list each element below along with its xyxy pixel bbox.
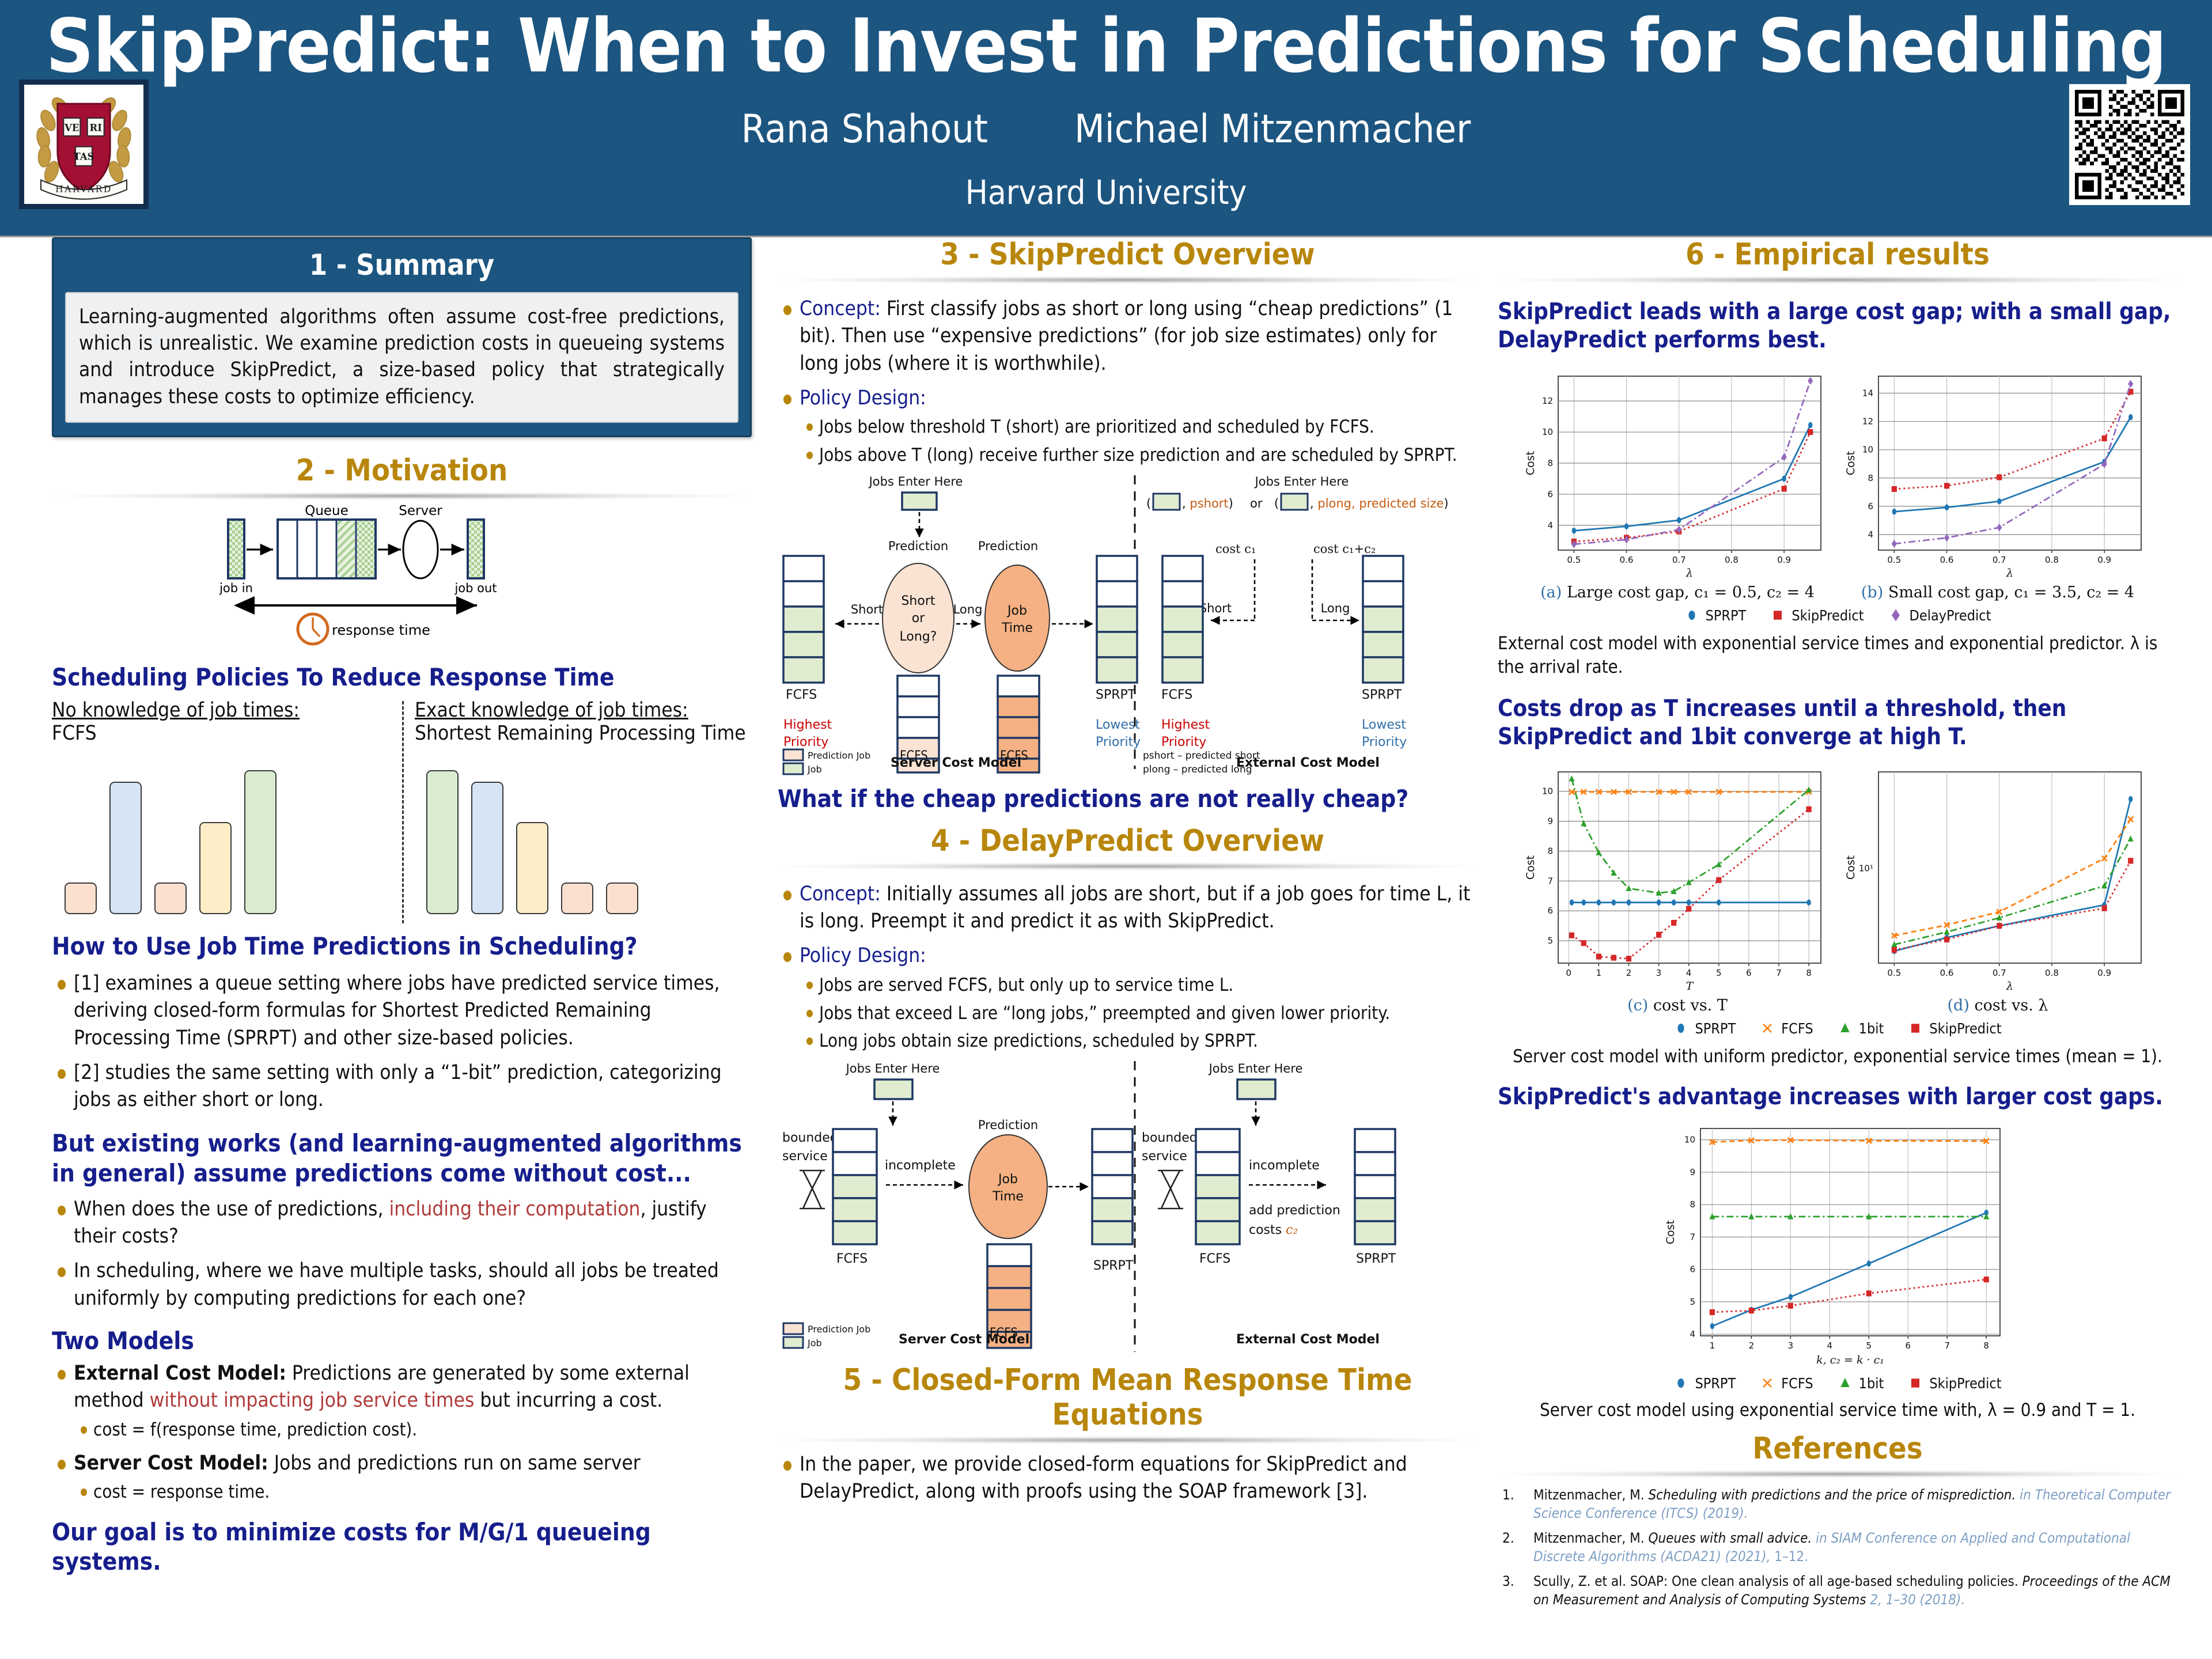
summary-section: 1 - Summary Learning-augmented algorithm… — [52, 237, 752, 437]
fcfs-label-d-left: FCFS — [836, 1252, 868, 1266]
harvard-crest-logo: VE RI TAS HARVARD — [19, 79, 149, 209]
cheap-predictions-question: What if the cheap predictions are not re… — [778, 784, 1478, 813]
legend-marker-icon — [1673, 1376, 1688, 1391]
how-to-use-heading: How to Use Job Time Predictions in Sched… — [52, 931, 752, 961]
external-sub-list: cost = f(response time, prediction cost)… — [74, 1418, 752, 1442]
affiliation: Harvard University — [0, 173, 2212, 212]
policy-design-label: Policy Design: — [800, 944, 926, 967]
y-tick-label: 9 — [1547, 816, 1553, 826]
highest-priority-line2: Priority — [783, 735, 828, 749]
x-tick-label: 0.6 — [1620, 555, 1634, 565]
list-item-concept: Concept: First classify jobs as short or… — [778, 296, 1478, 377]
svg-text:TAS: TAS — [73, 150, 94, 162]
x-tick-label: 2 — [1626, 968, 1632, 978]
highest-priority-right-1: Highest — [1161, 718, 1210, 732]
legend-label: SkipPredict — [1791, 607, 1863, 624]
x-tick-label: 2 — [1749, 1340, 1755, 1351]
reference-pages: 1–12. — [1770, 1548, 1808, 1565]
column-middle: 3 - SkipPredict Overview Concept: First … — [778, 237, 1478, 1513]
y-tick-label: 8 — [1690, 1199, 1695, 1210]
job-out-label: job out — [454, 581, 497, 595]
y-tick-label: 10 — [1542, 427, 1553, 437]
policy-sub-list: Jobs below threshold T (short) are prior… — [800, 415, 1478, 468]
long-arrow-label: Long — [953, 603, 983, 616]
data-point — [1808, 422, 1812, 428]
references-list: Mitzenmacher, M. Scheduling with predict… — [1498, 1486, 2177, 1609]
claim-1: SkipPredict leads with a large cost gap;… — [1498, 298, 2177, 354]
y-axis-label: Cost — [1845, 450, 1857, 475]
reference-title: Scheduling with predictions and the pric… — [1648, 1487, 2016, 1503]
prediction-label-1: Prediction — [888, 539, 948, 553]
data-point — [2102, 906, 2107, 911]
data-point — [1997, 923, 2002, 929]
x-tick-label: 0.5 — [1887, 555, 1901, 565]
chart-c-svg: 0123456785678910TCost — [1525, 763, 1830, 993]
short-or-long-line3: Long? — [900, 630, 937, 644]
prediction-label-d: Prediction — [978, 1118, 1038, 1132]
predictions-bullets: [1] examines a queue setting where jobs … — [52, 970, 752, 1113]
x-tick-label: 6 — [1746, 968, 1752, 978]
ext-tuple-1-text: , pshort) — [1182, 497, 1233, 510]
delaypredict-heading: 4 - DelayPredict Overview — [778, 824, 1478, 858]
data-point — [1611, 955, 1616, 960]
chart-a-caption-text: Large cost gap, c₁ = 0.5, c₂ = 4 — [1562, 584, 1815, 601]
jobs-enter-label-right: Jobs Enter Here — [1254, 475, 1349, 488]
delaypredict-diagram-svg: Jobs Enter Here bounded service — [778, 1061, 1478, 1361]
bounded-label-left: bounded — [782, 1131, 838, 1145]
x-tick-label: 7 — [1776, 968, 1782, 978]
incomplete-label-left: incomplete — [885, 1158, 956, 1173]
x-tick-label: 4 — [1686, 968, 1692, 978]
delaypredict-diagram: Jobs Enter Here bounded service — [778, 1061, 1478, 1361]
data-point — [1569, 933, 1574, 938]
list-item: Jobs that exceed L are “long jobs,” pree… — [800, 1002, 1478, 1026]
chart-d-svg: 0.50.60.70.80.910¹λCost — [1845, 763, 2150, 993]
section-divider — [52, 492, 752, 500]
reference-authors: Scully, Z. et al. SOAP: One clean analys… — [1533, 1573, 2022, 1589]
reference-venue: 2, 1–30 (2018). — [1866, 1592, 1965, 1608]
data-point — [1892, 509, 1896, 515]
chart-a-caption: (a) Large cost gap, c₁ = 0.5, c₂ = 4 — [1525, 584, 1830, 601]
data-point — [1911, 1024, 1919, 1033]
y-tick-label: 4 — [1690, 1329, 1695, 1339]
skippredict-diagram-svg: Jobs Enter Here Prediction Prediction — [778, 475, 1478, 781]
bar — [244, 770, 276, 914]
data-point — [1677, 517, 1681, 523]
x-axis-label: T — [1686, 980, 1694, 993]
lowest-priority-right-1: Lowest — [1362, 718, 1406, 732]
chart-d-caption: (d) cost vs. λ — [1845, 997, 2150, 1014]
ext-tuple-open-2: ( — [1274, 497, 1279, 510]
poster-root: SkipPredict: When to Invest in Predictio… — [0, 0, 2212, 1659]
jobs-enter-label-right-2: Jobs Enter Here — [1208, 1062, 1303, 1075]
skippredict-diagram: Jobs Enter Here Prediction Prediction — [778, 475, 1478, 781]
x-tick-label: 8 — [1806, 968, 1812, 978]
list-item: In the paper, we provide closed-form equ… — [778, 1451, 1478, 1506]
bar — [516, 822, 548, 914]
poster-header: SkipPredict: When to Invest in Predictio… — [0, 0, 2212, 237]
claim-3: SkipPredict's advantage increases with l… — [1498, 1083, 2177, 1111]
sprpt-label-d-right: SPRPT — [1356, 1252, 1396, 1266]
list-item-server-cost-model: Server Cost Model: Jobs and predictions … — [52, 1450, 752, 1505]
claim-2: Costs drop as T increases until a thresh… — [1498, 695, 2177, 751]
x-axis-label: λ — [2006, 980, 2013, 993]
concept-text: Initially assumes all jobs are short, bu… — [800, 882, 1470, 933]
poster-columns: 1 - Summary Learning-augmented algorithm… — [0, 237, 2212, 1659]
reference-title: Queues with small advice. — [1648, 1530, 1812, 1546]
legend-item-SkipPredict: SkipPredict — [1908, 1375, 2001, 1392]
list-item: Jobs below threshold T (short) are prior… — [800, 415, 1478, 440]
note-2: Server cost model with uniform predictor… — [1498, 1045, 2177, 1069]
external-cost-model-caption-2: External Cost Model — [1236, 1332, 1380, 1347]
empirical-results-heading: 6 - Empirical results — [1498, 237, 2177, 272]
y-axis-label: Cost — [1525, 450, 1537, 475]
hourglass-icon-2 — [1158, 1171, 1183, 1209]
ext-tuple-or: or — [1250, 497, 1263, 510]
x-tick-label: 6 — [1905, 1340, 1911, 1351]
data-point — [1892, 609, 1900, 622]
y-tick-label: 4 — [1547, 520, 1553, 530]
skippredict-bullets: Concept: First classify jobs as short or… — [778, 296, 1478, 468]
policy-sub-list: Jobs are served FCFS, but only up to ser… — [800, 974, 1478, 1054]
chart-c-container: 0123456785678910TCost (c) cost vs. T — [1525, 763, 1830, 1014]
chart-a-svg: 0.50.60.70.80.94681012λCost — [1525, 367, 1830, 580]
bars-divider — [402, 701, 404, 923]
x-tick-label: 1 — [1596, 968, 1602, 978]
legend-marker-icon — [1760, 1376, 1775, 1391]
bar — [109, 782, 142, 914]
queue-diagram-svg: job in Queue — [160, 505, 644, 654]
x-tick-label: 5 — [1866, 1340, 1872, 1351]
x-tick-label: 0.8 — [1725, 555, 1738, 565]
legend-marker-icon — [1838, 1021, 1853, 1036]
data-point — [1710, 1309, 1715, 1315]
legend-marker-icon — [1838, 1376, 1853, 1391]
bar — [471, 782, 503, 914]
long-arrow-label-right: Long — [1321, 601, 1350, 615]
chart-b-svg: 0.50.60.70.80.9468101214λCost — [1845, 367, 2150, 580]
chart-c-caption-text: cost vs. T — [1648, 997, 1728, 1014]
policy-design-label: Policy Design: — [800, 387, 926, 410]
legend-label: SkipPredict — [1929, 1020, 2001, 1037]
data-point — [2128, 796, 2133, 802]
queue-label: Queue — [305, 505, 349, 518]
legend-label: FCFS — [1781, 1375, 1813, 1392]
short-arrow-label: Short — [851, 603, 883, 616]
sprpt-label-right: SPRPT — [1362, 688, 1402, 702]
data-point — [1997, 474, 2002, 480]
data-point — [1686, 906, 1691, 911]
chart-b-caption: (b) Small cost gap, c₁ = 3.5, c₂ = 4 — [1845, 584, 2150, 601]
cost-c1c2-label: cost c₁+c₂ — [1313, 542, 1376, 556]
x-tick-label: 3 — [1788, 1340, 1794, 1351]
cost-free-bullets: When does the use of predictions, includ… — [52, 1196, 752, 1312]
data-point — [1671, 920, 1676, 926]
no-knowledge-heading: No knowledge of job times: — [52, 699, 374, 722]
concept-label: Concept: — [800, 882, 881, 906]
section-divider — [778, 276, 1478, 284]
external-text-post: but incurring a cost. — [474, 1389, 662, 1412]
y-tick-label: 10¹ — [1859, 863, 1873, 873]
concept-label: Concept: — [800, 297, 881, 320]
legend-label: 1bit — [1859, 1020, 1884, 1037]
legend-item-1bit: 1bit — [1838, 1020, 1884, 1037]
x-tick-label: 0.7 — [1993, 555, 2006, 565]
chart-c-caption: (c) cost vs. T — [1525, 997, 1830, 1014]
data-point — [1688, 611, 1695, 620]
external-text-highlight: without impacting job service times — [150, 1389, 475, 1412]
legend-label: SkipPredict — [1929, 1375, 2001, 1392]
data-point — [1570, 899, 1574, 906]
sprpt-label-d-left: SPRPT — [1093, 1259, 1134, 1273]
legend-label: DelayPredict — [1910, 607, 1991, 624]
data-point — [1840, 1023, 1849, 1032]
data-point — [1867, 1260, 1871, 1267]
hourglass-icon — [800, 1171, 825, 1209]
y-tick-label: 8 — [1547, 458, 1553, 468]
x-tick-label: 0.7 — [1993, 968, 2006, 978]
data-point — [1687, 899, 1691, 906]
chart-b-caption-prefix: (b) — [1861, 584, 1883, 601]
bar — [199, 822, 232, 914]
data-point — [2102, 435, 2107, 441]
data-point — [1716, 877, 1721, 883]
list-item: When does the use of predictions, includ… — [52, 1196, 752, 1251]
data-point — [1911, 1378, 1919, 1387]
bar — [65, 882, 97, 914]
y-tick-label: 8 — [1547, 846, 1553, 856]
fcfs-label-pred2: FCFS — [1000, 749, 1028, 763]
response-time-label: response time — [332, 622, 430, 638]
list-item: Jobs are served FCFS, but only up to ser… — [800, 974, 1478, 998]
data-point — [1806, 806, 1812, 812]
data-point — [1596, 953, 1601, 959]
data-point — [1717, 899, 1721, 906]
cost-free-heading: But existing works (and learning-augment… — [52, 1128, 752, 1187]
chart-e-svg: 1234567845678910k, c₂ = k · c₁Cost — [1665, 1119, 2010, 1367]
data-point — [1627, 899, 1631, 906]
fcfs-label-pred1: FCFS — [900, 749, 928, 763]
data-point — [1624, 523, 1628, 529]
x-tick-label: 0.9 — [2097, 555, 2111, 565]
legend-marker-icon — [1908, 1021, 1923, 1036]
job-time-line2: Time — [1001, 621, 1033, 635]
summary-heading: 1 - Summary — [54, 239, 750, 292]
data-point — [1672, 899, 1676, 906]
chart-d-caption-prefix: (d) — [1948, 997, 1969, 1014]
lowest-priority-line1: Lowest — [1096, 718, 1140, 732]
sprpt-label-left: SPRPT — [1096, 688, 1136, 702]
page-title: SkipPredict: When to Invest in Predictio… — [0, 3, 2212, 89]
chart-a-container: 0.50.60.70.80.94681012λCost (a) Large co… — [1525, 367, 1830, 601]
y-tick-label: 7 — [1547, 876, 1553, 886]
legend-ab: SPRPTSkipPredictDelayPredict — [1498, 607, 2177, 624]
y-tick-label: 10 — [1542, 786, 1553, 797]
bar — [154, 882, 187, 914]
legend-item-SPRPT: SPRPT — [1673, 1375, 1736, 1392]
chart-d-caption-text: cost vs. λ — [1969, 997, 2048, 1014]
x-tick-label: 0.6 — [1940, 555, 1954, 565]
data-point — [1840, 1378, 1849, 1387]
job-time-d-1: Job — [997, 1172, 1018, 1187]
y-axis-label: Cost — [1525, 855, 1537, 880]
reference-item: Mitzenmacher, M. Scheduling with predict… — [1498, 1486, 2177, 1523]
data-point — [1774, 611, 1782, 619]
bullet-text-pre: When does the use of predictions, — [74, 1198, 389, 1221]
data-point — [1806, 899, 1810, 906]
data-point — [1763, 1379, 1771, 1387]
svg-text:VE: VE — [64, 122, 79, 134]
lowest-priority-right-2: Priority — [1362, 735, 1407, 749]
y-axis-label: Cost — [1845, 855, 1857, 880]
column-right: 6 - Empirical results SkipPredict leads … — [1498, 237, 2177, 1616]
note-1: External cost model with exponential ser… — [1498, 632, 2177, 680]
two-models-heading: Two Models — [52, 1326, 752, 1355]
jobs-enter-label-left-2: Jobs Enter Here — [845, 1062, 940, 1075]
data-point — [1944, 937, 1949, 942]
concept-text: First classify jobs as short or long usi… — [800, 297, 1453, 375]
reference-authors: Mitzenmacher, M. — [1533, 1530, 1648, 1546]
bar — [561, 882, 593, 914]
prediction-label-2: Prediction — [978, 539, 1038, 553]
qr-code[interactable] — [2069, 84, 2190, 205]
server-sub-list: cost = response time. — [74, 1480, 752, 1505]
x-axis-label: k, c₂ = k · c₁ — [1816, 1354, 1884, 1366]
list-item: In scheduling, where we have multiple ta… — [52, 1257, 752, 1312]
exact-knowledge-heading: Exact knowledge of job times: — [415, 699, 760, 722]
data-point — [1656, 932, 1661, 938]
y-tick-label: 6 — [1547, 906, 1553, 916]
queue-diagram: job in Queue — [52, 505, 752, 660]
note-3: Server cost model using exponential serv… — [1498, 1399, 2177, 1423]
chart-b-container: 0.50.60.70.80.9468101214λCost (b) Small … — [1845, 367, 2150, 601]
author-1: Rana Shahout — [741, 107, 988, 152]
server-cost-model-label: Server Cost Model: — [74, 1452, 268, 1475]
summary-text: Learning-augmented algorithms often assu… — [65, 292, 738, 423]
legend-item-SkipPredict: SkipPredict — [1908, 1020, 2001, 1037]
x-tick-label: 0.8 — [2045, 555, 2059, 565]
x-tick-label: 0.7 — [1672, 555, 1686, 565]
data-point — [1657, 899, 1661, 906]
fcfs-label-left: FCFS — [786, 688, 817, 702]
chart-b-caption-text: Small cost gap, c₁ = 3.5, c₂ = 4 — [1883, 584, 2134, 601]
data-point — [1789, 1294, 1793, 1300]
y-tick-label: 12 — [1542, 396, 1553, 406]
incomplete-label-right: incomplete — [1249, 1158, 1320, 1173]
service-label-right: service — [1142, 1149, 1187, 1164]
closed-form-bullets: In the paper, we provide closed-form equ… — [778, 1451, 1478, 1506]
column-left: 1 - Summary Learning-augmented algorithm… — [52, 237, 752, 1576]
external-cost-model-caption: External Cost Model — [1236, 756, 1380, 770]
list-item: Long jobs obtain size predictions, sched… — [800, 1029, 1478, 1054]
short-or-long-line2: or — [912, 611, 925, 626]
author-list: Rana ShahoutMichael Mitzenmacher — [0, 107, 2212, 152]
data-point — [1749, 1308, 1754, 1313]
highest-priority-right-2: Priority — [1161, 735, 1206, 749]
bar — [426, 770, 459, 914]
legend-marker-icon — [1684, 608, 1699, 623]
y-tick-label: 6 — [1547, 489, 1553, 499]
reference-item: Scully, Z. et al. SOAP: One clean analys… — [1498, 1573, 2177, 1609]
x-tick-label: 0.5 — [1887, 968, 1901, 978]
legend-marker-icon — [1673, 1021, 1688, 1036]
service-label-left: service — [782, 1149, 828, 1164]
ext-tuple-open-1: ( — [1146, 497, 1151, 510]
x-tick-label: 0.5 — [1567, 555, 1581, 565]
references-heading: References — [1498, 1431, 2177, 1466]
data-point — [1763, 1024, 1771, 1032]
job-time-line1: Job — [1006, 604, 1027, 618]
legend-marker-icon — [1760, 1021, 1775, 1036]
data-point — [2128, 858, 2133, 863]
x-tick-label: 1 — [1710, 1340, 1715, 1351]
fcfs-label-d-right: FCFS — [1199, 1252, 1230, 1266]
charts-ab: 0.50.60.70.80.94681012λCost (a) Large co… — [1498, 367, 2177, 624]
data-point — [1678, 1024, 1684, 1033]
server-label: Server — [399, 505, 442, 518]
legend-marker-icon — [1888, 608, 1903, 623]
x-tick-label: 3 — [1656, 968, 1662, 978]
list-item: [1] examines a queue setting where jobs … — [52, 970, 752, 1052]
legend-item-1bit: 1bit — [1838, 1375, 1884, 1392]
y-tick-label: 4 — [1868, 529, 1873, 540]
two-models-list: External Cost Model: Predictions are gen… — [52, 1360, 752, 1504]
y-tick-label: 10 — [1862, 444, 1873, 454]
author-2: Michael Mitzenmacher — [1074, 107, 1471, 152]
cost-c1-label: cost c₁ — [1215, 542, 1256, 556]
x-tick-label: 0 — [1566, 968, 1571, 978]
x-tick-label: 0.9 — [1777, 555, 1791, 565]
scheduling-policies-heading: Scheduling Policies To Reduce Response T… — [52, 662, 752, 692]
data-point — [1997, 498, 2001, 505]
list-item: cost = f(response time, prediction cost)… — [74, 1418, 752, 1442]
bars-group-srpt — [426, 770, 638, 914]
legend-marker-icon — [1908, 1376, 1923, 1391]
legend-label: SPRPT — [1706, 607, 1747, 624]
lowest-priority-line2: Priority — [1096, 735, 1141, 749]
legend-label: SPRPT — [1695, 1020, 1736, 1037]
qr-code-icon — [2075, 90, 2184, 199]
data-point — [1866, 1290, 1872, 1296]
y-tick-label: 7 — [1690, 1232, 1695, 1242]
data-point — [1892, 947, 1897, 953]
chart-a-caption-prefix: (a) — [1540, 584, 1562, 601]
motivation-bar-chart — [52, 747, 752, 914]
x-tick-label: 4 — [1827, 1340, 1833, 1351]
highest-priority-line1: Highest — [783, 718, 832, 732]
y-tick-label: 12 — [1862, 416, 1873, 426]
data-point — [1597, 899, 1601, 906]
y-tick-label: 14 — [1862, 388, 1873, 398]
legend-item-SPRPT: SPRPT — [1673, 1020, 1736, 1037]
data-point — [1808, 429, 1813, 435]
legend-item-FCFS: FCFS — [1760, 1375, 1813, 1392]
y-axis-label: Cost — [1665, 1219, 1677, 1244]
section-divider — [1498, 1470, 2177, 1478]
x-tick-label: 7 — [1944, 1340, 1950, 1351]
list-item-policy: Policy Design: Jobs are served FCFS, but… — [778, 942, 1478, 1054]
legend-label: SPRPT — [1695, 1375, 1736, 1392]
job-time-d-2: Time — [992, 1190, 1024, 1204]
reference-authors: Mitzenmacher, M. — [1533, 1487, 1648, 1503]
x-axis-label: λ — [2006, 567, 2013, 579]
external-cost-model-label: External Cost Model: — [74, 1362, 286, 1385]
legend-item-SPRPT: SPRPT — [1684, 607, 1747, 624]
x-tick-label: 0.9 — [2097, 968, 2111, 978]
svg-text:HARVARD: HARVARD — [55, 184, 112, 194]
data-point — [1626, 956, 1631, 961]
data-point — [1984, 1277, 1989, 1282]
